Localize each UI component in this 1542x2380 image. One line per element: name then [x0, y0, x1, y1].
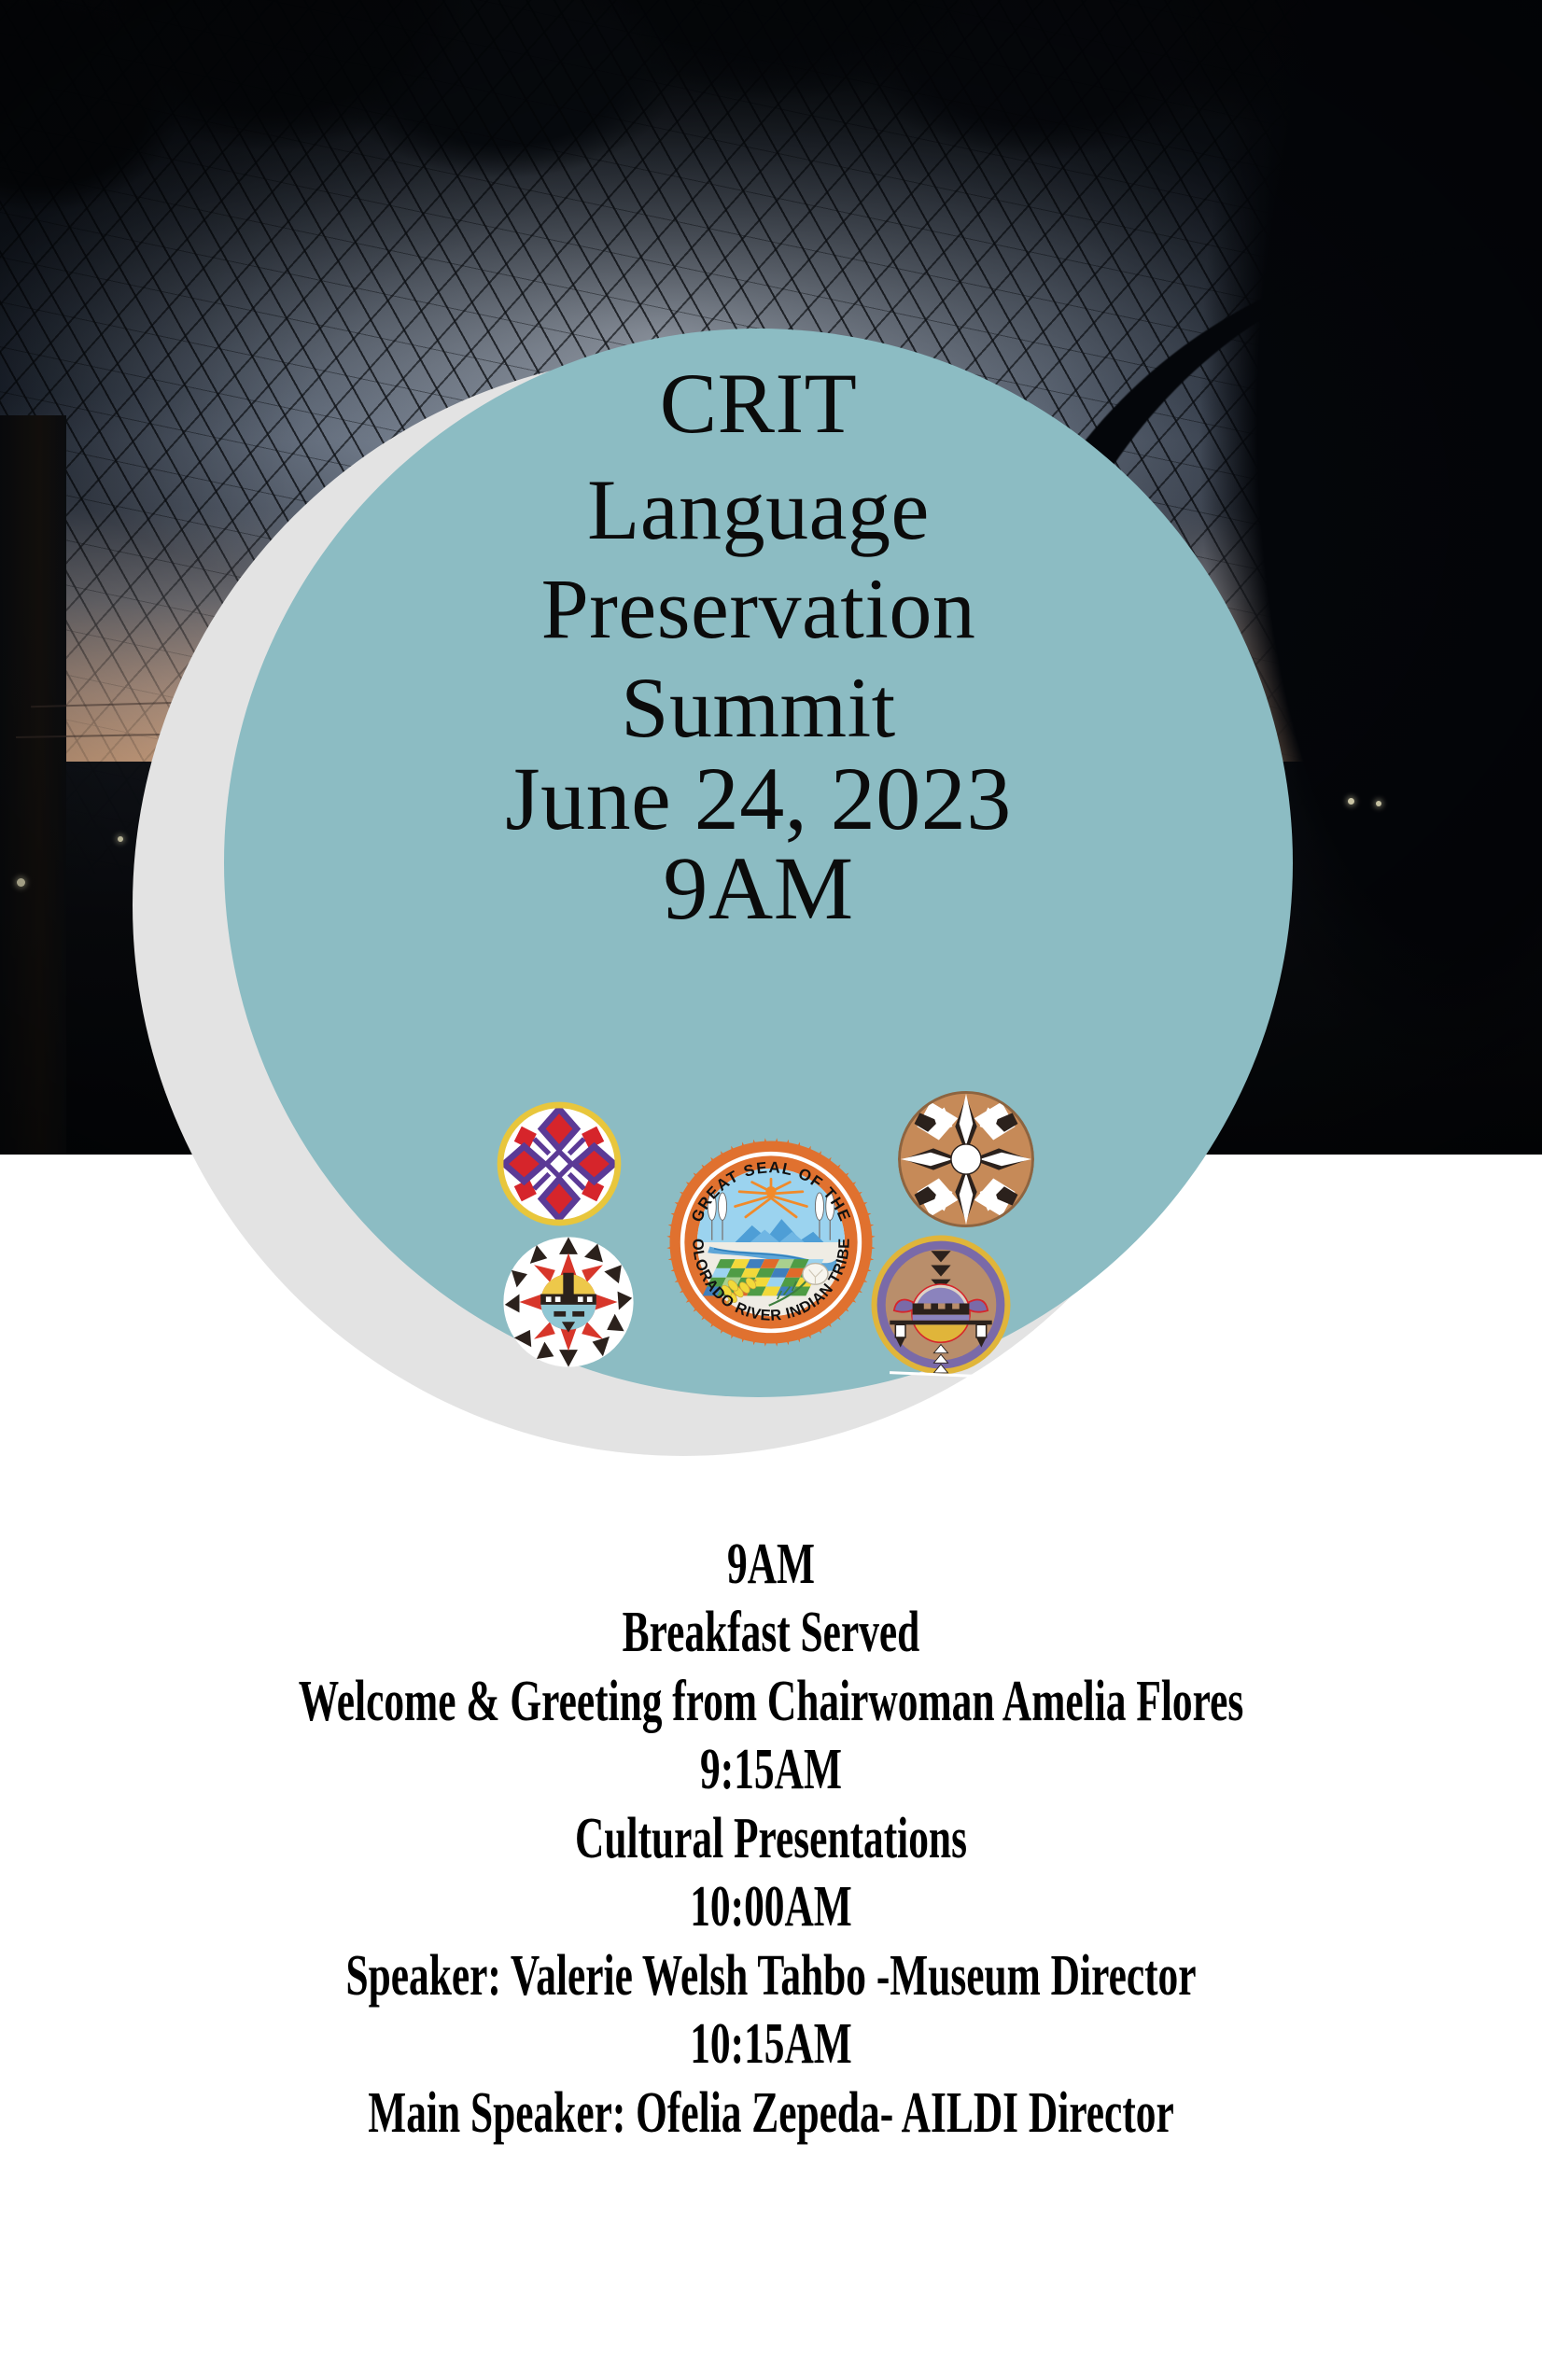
event-schedule: 9AM Breakfast Served Welcome & Greeting … [0, 1531, 1542, 2148]
schedule-line-time: 9:15AM [231, 1736, 1311, 1804]
page-title: CRIT [224, 360, 1293, 446]
schedule-line-event: Speaker: Valerie Welsh Tahbo -Museum Dir… [231, 1942, 1311, 2010]
event-date: June 24, 2023 [224, 754, 1293, 844]
schedule-line-time: 10:00AM [231, 1873, 1311, 1941]
title-line-3: Preservation [224, 566, 1293, 651]
schedule-line-time: 10:15AM [231, 2010, 1311, 2079]
title-line-4: Summit [224, 665, 1293, 750]
schedule-line-time: 9AM [231, 1531, 1311, 1599]
event-start-time: 9AM [224, 844, 1293, 933]
title-line-2: Language [224, 467, 1293, 553]
schedule-line-event: Breakfast Served [231, 1599, 1311, 1667]
schedule-line-event: Cultural Presentations [231, 1805, 1311, 1873]
schedule-line-event: Main Speaker: Ofelia Zepeda- AILDI Direc… [231, 2079, 1311, 2148]
poster-title-block: CRIT Language Preservation Summit June 2… [224, 329, 1293, 933]
schedule-line-event: Welcome & Greeting from Chairwoman Ameli… [231, 1668, 1311, 1736]
